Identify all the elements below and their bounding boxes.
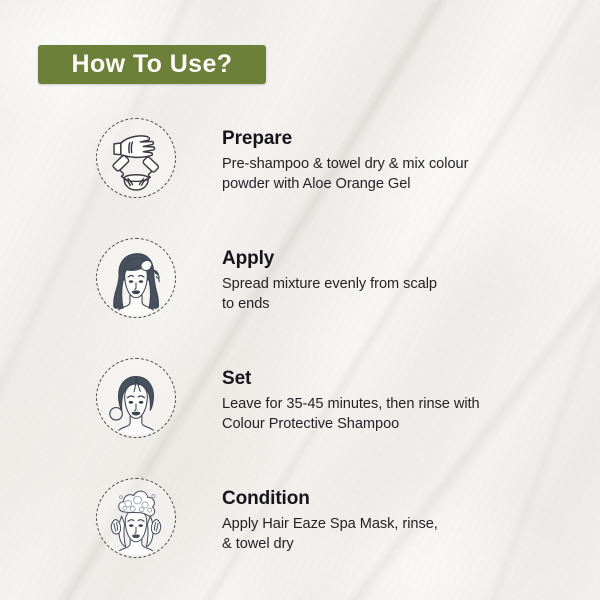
step-text-condition: Condition Apply Hair Eaze Spa Mask, rins… <box>222 488 562 554</box>
step-description: Leave for 35-45 minutes, then rinse with… <box>222 394 562 434</box>
step-text-apply: Apply Spread mixture evenly from scalp t… <box>222 248 562 314</box>
step-description: Spread mixture evenly from scalp to ends <box>222 274 562 314</box>
woman-waiting-with-earring-icon <box>96 358 176 438</box>
step-title: Condition <box>222 488 562 510</box>
step-description: Apply Hair Eaze Spa Mask, rinse, & towel… <box>222 514 562 554</box>
woman-applying-with-brush-icon <box>96 238 176 318</box>
step-title: Set <box>222 368 562 390</box>
how-to-use-infographic: How To Use? <box>0 0 600 600</box>
page-title-badge: How To Use? <box>38 45 266 84</box>
step-description: Pre-shampoo & towel dry & mix colour pow… <box>222 154 562 194</box>
step-title: Prepare <box>222 128 562 150</box>
step-title: Apply <box>222 248 562 270</box>
page-title: How To Use? <box>72 52 233 77</box>
step-text-prepare: Prepare Pre-shampoo & towel dry & mix co… <box>222 128 562 194</box>
woman-shampoo-lather-icon <box>96 478 176 558</box>
step-text-set: Set Leave for 35-45 minutes, then rinse … <box>222 368 562 434</box>
gloved-hand-mixing-bowl-icon <box>96 118 176 198</box>
